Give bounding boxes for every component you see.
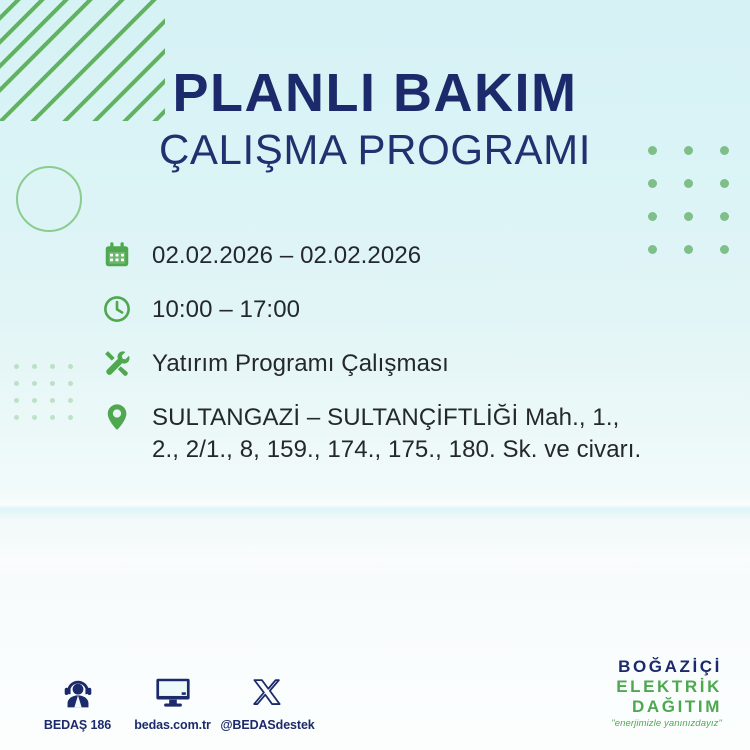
brand-line-elektrik: ELEKTRİK (611, 678, 722, 695)
maintenance-details: 02.02.2026 – 02.02.2026 10:00 – 17:00 (100, 238, 700, 465)
brand-slogan: "enerjimizle yanınızdayız" (611, 719, 722, 729)
detail-text-location: SULTANGAZİ – SULTANÇİFTLİĞİ Mah., 1., 2.… (152, 400, 652, 465)
background-wave-band-secondary (0, 540, 750, 580)
background-wave-band (0, 494, 750, 520)
footer-contacts: BEDAŞ 186 bedas.com.tr (30, 671, 315, 732)
location-pin-icon (100, 400, 134, 434)
poster-title: PLANLI BAKIM ÇALIŞMA PROGRAMI (0, 66, 750, 174)
title-line-primary: PLANLI BAKIM (0, 66, 750, 120)
x-twitter-icon (220, 671, 315, 711)
footer-label-website: bedas.com.tr (125, 718, 220, 732)
detail-text-time: 10:00 – 17:00 (152, 292, 300, 326)
detail-text-worktype: Yatırım Programı Çalışması (152, 346, 449, 380)
planned-maintenance-poster: PLANLI BAKIM ÇALIŞMA PROGRAMI (0, 0, 750, 750)
footer-item-phone[interactable]: BEDAŞ 186 (30, 671, 125, 732)
monitor-icon (125, 671, 220, 711)
footer-label-phone: BEDAŞ 186 (30, 718, 125, 732)
footer-item-website[interactable]: bedas.com.tr (125, 671, 220, 732)
detail-row-time: 10:00 – 17:00 (100, 292, 700, 326)
footer-label-twitter: @BEDASdestek (220, 718, 315, 732)
brand-line-bogazici: BOĞAZİÇİ (611, 658, 722, 675)
calendar-icon (100, 238, 134, 272)
detail-row-location: SULTANGAZİ – SULTANÇİFTLİĞİ Mah., 1., 2.… (100, 400, 700, 465)
detail-row-worktype: Yatırım Programı Çalışması (100, 346, 700, 380)
brand-line-dagitim: DAĞITIM (611, 698, 722, 715)
tools-icon (100, 346, 134, 380)
detail-text-date: 02.02.2026 – 02.02.2026 (152, 238, 421, 272)
dot-grid-left-decoration (14, 364, 86, 432)
clock-icon (100, 292, 134, 326)
brand-logo: BOĞAZİÇİ ELEKTRİK DAĞITIM "enerjimizle y… (611, 658, 722, 729)
circle-outline-decoration (16, 166, 82, 232)
support-agent-icon (30, 671, 125, 711)
title-line-secondary: ÇALIŞMA PROGRAMI (0, 126, 750, 174)
detail-row-date: 02.02.2026 – 02.02.2026 (100, 238, 700, 272)
footer-item-twitter[interactable]: @BEDASdestek (220, 671, 315, 732)
